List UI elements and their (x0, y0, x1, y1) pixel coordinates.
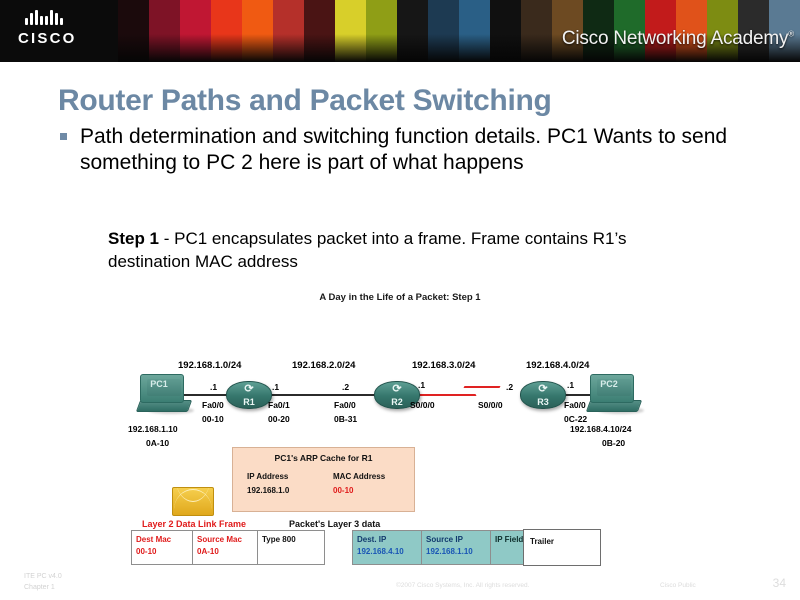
cell-header: Dest Mac (136, 535, 171, 544)
iface-1-name: Fa0/1 (268, 400, 290, 410)
layer3-packet-label: Packet's Layer 3 data (289, 519, 380, 529)
cisco-wordmark: CISCO (18, 30, 118, 47)
router-r3: ⟳ R3 (520, 381, 566, 409)
iface-1-mac: 00-20 (268, 414, 290, 424)
page-title: Router Paths and Packet Switching (58, 84, 778, 118)
banner-photo-slice (242, 0, 273, 62)
envelope-icon (172, 487, 214, 516)
footer: ITE PC v4.0 Chapter 1 ©2007 Cisco System… (0, 570, 800, 600)
banner-photo-slice (490, 0, 521, 62)
pc2-label: PC2 (588, 379, 630, 389)
iface-6-name: Fa0/0 (564, 400, 586, 410)
banner-photo-slice (118, 0, 149, 62)
cell-value: 192.168.1.10 (426, 547, 473, 556)
banner-photo-slice (304, 0, 335, 62)
cell-header: Source IP (426, 535, 463, 544)
network-label-1: 192.168.1.0/24 (178, 360, 241, 371)
iface-4-name: S0/0/0 (478, 400, 503, 410)
academy-text: Cisco Networking Academy (562, 28, 788, 49)
table-cell-source-mac: Source Mac 0A-10 (192, 530, 258, 565)
router-arrows-icon: ⟳ (227, 384, 271, 394)
footer-page-number: 34 (773, 576, 786, 590)
cell-header: Type 800 (262, 535, 296, 544)
table-cell-dest-ip: Dest. IP 192.168.4.10 (352, 530, 422, 565)
iface-0-name: Fa0/0 (202, 400, 224, 410)
iface-1-octet: .1 (272, 382, 279, 392)
cell-header: Trailer (530, 537, 554, 546)
iface-6-mac: 0C-22 (564, 414, 587, 424)
iface-5-octet: .2 (506, 382, 513, 392)
banner-photo-slice (180, 0, 211, 62)
iface-3-octet: .1 (418, 380, 425, 390)
router-r3-label: R3 (521, 397, 565, 407)
bullet-text: Path determination and switching functio… (80, 125, 727, 174)
router-arrows-icon: ⟳ (521, 384, 565, 394)
pc1-ip: 192.168.1.10 (128, 424, 178, 434)
cell-value: 192.168.4.10 (357, 547, 404, 556)
step-label: Step 1 (108, 229, 159, 248)
network-label-2: 192.168.2.0/24 (292, 360, 355, 371)
iface-6-octet: .1 (567, 380, 574, 390)
step-text: - PC1 encapsulates packet into a frame. … (108, 229, 626, 271)
serial-link-left (418, 394, 477, 396)
footer-copyright: ©2007 Cisco Systems, Inc. All rights res… (396, 582, 529, 589)
banner-photo-slice (366, 0, 397, 62)
host-pc2: PC2 (588, 374, 640, 414)
iface-2-name: Fa0/0 (334, 400, 356, 410)
banner-photo-slice (521, 0, 552, 62)
footer-left: ITE PC v4.0 Chapter 1 (24, 572, 62, 593)
banner-photo-slice (273, 0, 304, 62)
network-label-3: 192.168.3.0/24 (412, 360, 475, 371)
network-label-4: 192.168.4.0/24 (526, 360, 589, 371)
table-cell-source-ip: Source IP 192.168.1.10 (421, 530, 491, 565)
router-r1-label: R1 (227, 397, 271, 407)
diagram-caption: A Day in the Life of a Packet: Step 1 (0, 292, 800, 303)
banner-photo-slice (397, 0, 428, 62)
arp-cache-title: PC1's ARP Cache for R1 (233, 453, 414, 463)
cisco-bridge-logo-icon (25, 10, 118, 25)
header-banner: CISCO Cisco Networking Academy® (0, 0, 800, 62)
table-cell-dest-mac: Dest Mac 00-10 (131, 530, 193, 565)
host-pc1: PC1 (138, 374, 190, 414)
table-cell-trailer: Trailer (523, 529, 601, 566)
layer2-frame-label: Layer 2 Data Link Frame (142, 519, 246, 529)
footer-product: ITE PC v4.0 (24, 572, 62, 583)
table-cell-type: Type 800 (257, 530, 325, 565)
pc1-label: PC1 (138, 379, 180, 389)
banner-photo-slice (459, 0, 490, 62)
cell-header: Dest. IP (357, 535, 386, 544)
router-arrows-icon: ⟳ (375, 384, 419, 394)
iface-3-name: S0/0/0 (410, 400, 435, 410)
iface-2-octet: .2 (342, 382, 349, 392)
banner-photo-slice (428, 0, 459, 62)
iface-0-octet: .1 (210, 382, 217, 392)
footer-classification: Cisco Public (660, 582, 696, 589)
footer-chapter: Chapter 1 (24, 583, 62, 594)
registered-mark: ® (788, 30, 794, 39)
cisco-logo: CISCO (18, 10, 118, 54)
networking-academy-title: Cisco Networking Academy® (562, 28, 794, 50)
router-r1: ⟳ R1 (226, 381, 272, 409)
banner-photo-slice (335, 0, 366, 62)
arp-cache-col-ip: IP Address (247, 472, 288, 481)
bullet-list: Path determination and switching functio… (58, 124, 758, 177)
cell-header: Source Mac (197, 535, 242, 544)
arp-cache-col-mac: MAC Address (333, 472, 385, 481)
iface-2-mac: 0B-31 (334, 414, 357, 424)
envelope-flap (173, 488, 213, 515)
cell-value: 00-10 (136, 547, 156, 556)
link-r1-r2 (270, 394, 374, 396)
iface-0-mac: 00-10 (202, 414, 224, 424)
banner-photo-slice (211, 0, 242, 62)
serial-link-right (464, 386, 501, 388)
banner-photo-slice (149, 0, 180, 62)
pc2-mac: 0B-20 (602, 438, 625, 448)
list-item: Path determination and switching functio… (58, 124, 758, 177)
arp-cache-ip-value: 192.168.1.0 (247, 486, 289, 495)
pc1-mac: 0A-10 (146, 438, 169, 448)
arp-cache-mac-value: 00-10 (333, 486, 353, 495)
step-description: Step 1 - PC1 encapsulates packet into a … (108, 228, 708, 273)
bullet-marker-icon (60, 133, 67, 140)
arp-cache-box: PC1's ARP Cache for R1 IP Address MAC Ad… (232, 447, 415, 512)
cell-value: 0A-10 (197, 547, 219, 556)
pc2-ip: 192.168.4.10/24 (570, 424, 631, 434)
